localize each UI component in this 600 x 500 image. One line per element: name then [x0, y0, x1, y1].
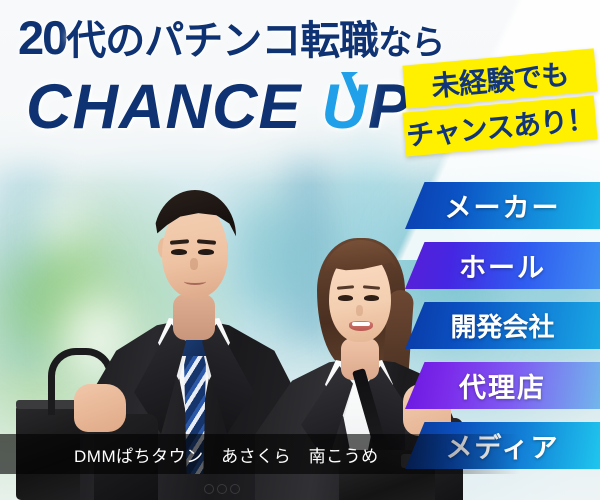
woman-nose — [356, 305, 363, 316]
man-hand — [74, 384, 126, 432]
credit-bar: DMMぱちタウン あさくら 南こうめ — [0, 434, 520, 474]
headline-middle: 代のパチンコ転職 — [66, 19, 378, 63]
category-label-agency: 代理店 — [459, 366, 546, 405]
man-eye-left — [171, 249, 187, 255]
headline: 20代のパチンコ転職なら — [18, 14, 444, 61]
man-jacket-buttons — [204, 484, 244, 494]
chance-up-logo: CHANCEUP — [26, 76, 411, 139]
category-button-agency[interactable]: 代理店 — [405, 362, 600, 409]
category-button-hall[interactable]: ホール — [405, 242, 600, 289]
man-eye-right — [198, 249, 214, 255]
headline-tail: なら — [378, 24, 444, 62]
woman-eye-left — [338, 295, 353, 301]
woman-eye-right — [364, 295, 379, 301]
man-mouth — [184, 278, 206, 285]
category-label-hall: ホール — [459, 246, 546, 285]
woman-teeth — [352, 322, 370, 326]
credit-text: DMMぱちタウン あさくら 南こうめ — [74, 442, 379, 467]
category-button-development[interactable]: 開発会社 — [405, 302, 600, 349]
logo-chance-text: CHANCE — [26, 72, 302, 142]
category-label-maker: メーカー — [445, 186, 561, 225]
promo-banner[interactable]: 20代のパチンコ転職なら CHANCEUP 未経験でも チャンスあり！ メーカー… — [0, 0, 600, 500]
headline-number: 20 — [18, 11, 66, 64]
man-neck — [173, 294, 215, 340]
category-button-maker[interactable]: メーカー — [405, 182, 600, 229]
category-label-development: 開発会社 — [450, 307, 554, 344]
logo-u-letter: U — [322, 76, 369, 139]
man-nose — [190, 258, 198, 270]
